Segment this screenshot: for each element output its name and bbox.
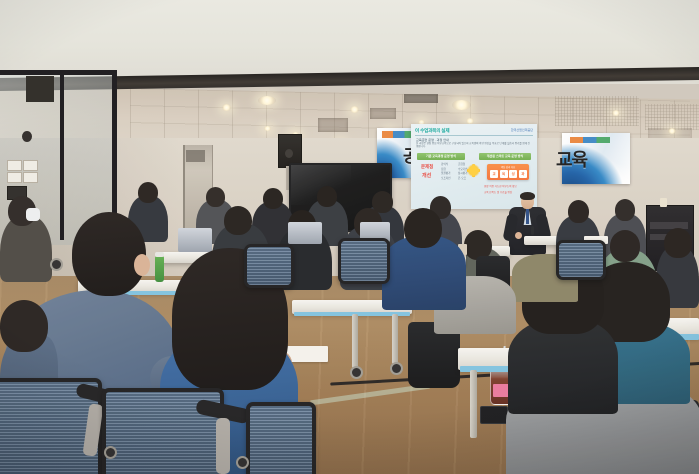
attendee-head: [72, 212, 146, 296]
wall-mounted-box: [26, 76, 54, 102]
attendee-head: [224, 206, 252, 235]
ceiling-perforated-panel: [555, 96, 639, 126]
cup-on-rack: [660, 198, 667, 207]
office-chair-back[interactable]: [244, 244, 294, 288]
slide-note-1: 현장 적용 가능한 직무능력 확보: [484, 184, 517, 188]
presenter-hair: [520, 192, 535, 200]
table-leg: [392, 314, 398, 364]
ceiling-vent: [370, 108, 396, 119]
slide-red-label-1: 문제점: [421, 164, 433, 170]
slide-col-right-item: 온·오프: [458, 177, 468, 182]
chair-arm-support: [216, 418, 230, 474]
slide-panel-caption: 핵심 성과 지표: [489, 165, 527, 169]
attendee-head: [206, 187, 225, 207]
attendee-head: [615, 199, 635, 221]
wall-outlet[interactable]: [23, 172, 38, 183]
slide-header-left: 기존 교육과정 운영 방식: [417, 153, 465, 160]
smartphone[interactable]: [480, 406, 508, 424]
slide-divider: [415, 135, 533, 136]
slide-column-left: 강의식 집합 일괄평가 오프라인: [441, 163, 451, 181]
face-mask-icon: [26, 208, 40, 221]
organization-mark-icon: [570, 137, 610, 143]
microphone-icon: [531, 226, 534, 235]
chair-caster: [236, 456, 249, 469]
presenter-hand: [515, 232, 522, 239]
slide-red-label-2: 개선: [422, 172, 431, 179]
ceiling-downlight: [668, 128, 676, 134]
office-chair-back[interactable]: [338, 238, 390, 284]
attendee-ear: [134, 254, 150, 276]
slide-header-right: 개선된 스마트 교육 운영 방식: [479, 153, 531, 160]
ceiling-downlight: [258, 96, 276, 105]
projection-screen: 이 수업과목의 실제 한국산업인력공단 교육훈련 운영 · 과정 안내 본 과정…: [411, 124, 537, 209]
ceiling-perforated-panel: [645, 104, 699, 130]
lecture-hall-photo: 공 교육 이 수업과목의 실제 한국산업인력공단 교육훈련 운영 · 과정 안내…: [0, 0, 699, 474]
attendee-head: [610, 230, 640, 262]
table-leg: [352, 314, 358, 368]
speaker-cone-icon: [285, 149, 293, 158]
ceiling-downlight: [264, 126, 271, 131]
attendee-head: [404, 208, 442, 248]
bottle-cap: [155, 252, 164, 257]
projector-mount: [404, 94, 438, 103]
ceiling-downlight: [222, 104, 231, 111]
ceiling-downlight: [350, 106, 359, 113]
slide-content: 이 수업과목의 실제 한국산업인력공단 교육훈련 운영 · 과정 안내 본 과정…: [411, 124, 537, 209]
ceiling-downlight: [612, 110, 620, 116]
door-window: [186, 150, 205, 162]
attendee-head: [568, 200, 589, 223]
slide-chip-row: 교 육 성 과: [490, 170, 527, 178]
attendee-body: [0, 216, 52, 282]
slide-col-left-item: 오프라인: [441, 177, 451, 182]
attendee-head: [664, 228, 692, 258]
slide-logo: 한국산업인력공단: [511, 128, 533, 132]
attendee-head: [0, 300, 48, 352]
office-chair-back[interactable]: [246, 402, 316, 474]
slide-chip: 과: [519, 170, 527, 178]
ceiling-vent: [318, 118, 348, 132]
attendee-head: [263, 188, 283, 209]
attendee-head: [317, 186, 337, 207]
slide-chip: 성: [509, 170, 517, 178]
slide-body-text: 본 과정은 현장 중심 직무교육으로 구성되어 있으며 교육생의 역량 향상을 …: [416, 142, 532, 149]
presenter-tie: [526, 209, 529, 224]
slide-chip: 육: [500, 170, 508, 178]
table-caster: [390, 362, 403, 375]
table-leg: [470, 370, 477, 438]
laptop[interactable]: [178, 228, 212, 252]
partition-mullion: [60, 70, 64, 240]
slide-title: 이 수업과목의 실제: [415, 128, 449, 134]
wall-switch[interactable]: [7, 172, 22, 183]
wall-switch[interactable]: [7, 160, 22, 171]
beverage-bottle[interactable]: [155, 256, 164, 282]
ceiling-downlight: [452, 100, 471, 110]
table-caster: [350, 366, 363, 379]
slide-note-2: 교육 만족도 및 수료율 향상: [484, 190, 512, 194]
wall-switch[interactable]: [23, 160, 38, 171]
chair-caster: [104, 446, 117, 459]
chair-caster: [50, 258, 63, 271]
banner-right-text: 교육: [556, 146, 587, 172]
laptop[interactable]: [288, 222, 322, 244]
slide-chip: 교: [490, 170, 498, 178]
wall-sensor-icon: [22, 131, 32, 142]
attendee-head: [138, 182, 158, 203]
office-chair-back[interactable]: [556, 240, 606, 280]
